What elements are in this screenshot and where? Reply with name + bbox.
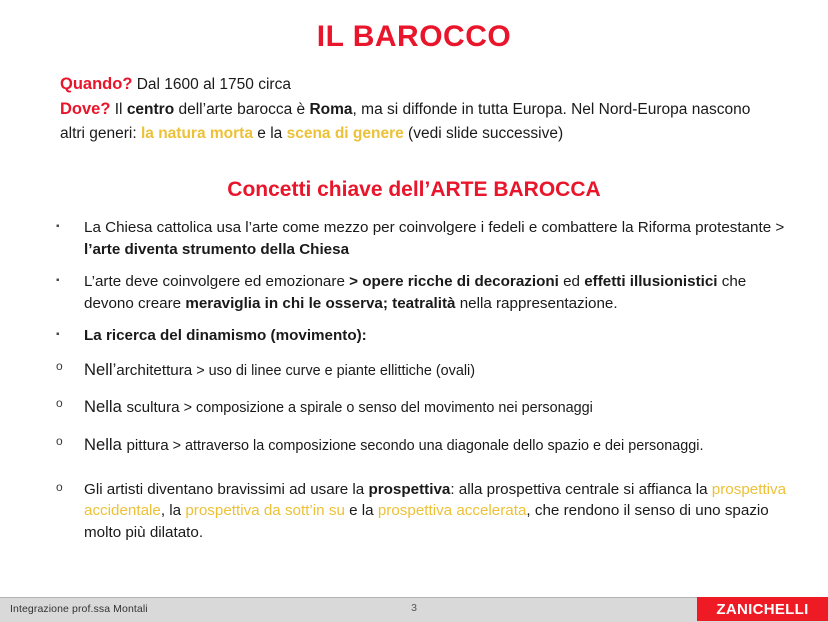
bullet-text-run: La ricerca del dinamismo (movimento): <box>84 327 367 344</box>
dove-bold-roma: Roma <box>309 101 352 118</box>
bullet-text-run: > composizione a spirale o senso del mov… <box>180 400 593 416</box>
dove-text-f: (vedi slide successive) <box>404 125 563 142</box>
dove-text-c: dell’arte barocca è <box>174 101 309 118</box>
highlight-scena-di-genere: scena di genere <box>287 125 404 142</box>
bullet-text: La ricerca del dinamismo (movimento): <box>84 327 367 344</box>
label-quando: Quando? <box>60 75 132 93</box>
intro-block: Quando? Dal 1600 al 1750 circa Dove? Il … <box>60 72 776 146</box>
bullet-text-run: > opere ricche di decorazioni <box>349 273 559 290</box>
highlight-natura-morta: la natura morta <box>141 125 253 142</box>
bullet-text-run: scultura <box>126 399 179 416</box>
dove-bold-centro: centro <box>127 101 174 118</box>
bullet-text: La Chiesa cattolica usa l’arte come mezz… <box>84 219 784 258</box>
bullet-text-run: meraviglia in chi le osserva; teatralità <box>185 295 455 312</box>
bullet-text-run: effetti illusionistici <box>584 273 717 290</box>
zanichelli-logo: ZANICHELLI <box>697 597 828 621</box>
sub-bullet-item: oNella pittura > attraverso la composizi… <box>48 433 788 457</box>
bullet-item: ▪L’arte deve coinvolgere ed emozionare >… <box>48 271 788 314</box>
intro-line-dove: Dove? Il centro dell’arte barocca è Roma… <box>60 97 776 146</box>
bullet-text-run: L’arte deve coinvolgere ed emozionare <box>84 273 349 290</box>
square-bullet-icon: ▪ <box>56 271 74 291</box>
circle-bullet-icon: o <box>56 479 74 496</box>
slide-canvas: IL BAROCCO Quando? Dal 1600 al 1750 circ… <box>0 0 828 621</box>
circle-bullet-icon: o <box>56 358 74 375</box>
bullet-text: Gli artisti diventano bravissimi ad usar… <box>84 481 786 541</box>
intro-line-quando: Quando? Dal 1600 al 1750 circa <box>60 72 776 97</box>
circle-bullet-icon: o <box>56 433 74 450</box>
bullet-text-run: La Chiesa cattolica usa l’arte come mezz… <box>84 219 784 236</box>
bullet-text-run: l’arte diventa strumento della Chiesa <box>84 241 349 258</box>
bullet-text-run: ed <box>559 273 584 290</box>
bullet-text-run: Nella <box>84 397 126 416</box>
bullet-text: Nell’architettura > uso di linee curve e… <box>84 362 475 379</box>
zanichelli-logo-text: ZANICHELLI <box>716 601 808 618</box>
bullet-text-run: Nell’ <box>84 360 116 379</box>
page-title: IL BAROCCO <box>0 20 828 54</box>
bullet-text-run: e la <box>345 502 378 519</box>
dove-text-a: Il <box>110 101 126 118</box>
bullet-text-run: > attraverso la composizione secondo una… <box>169 438 704 454</box>
bullet-list: ▪La Chiesa cattolica usa l’arte come mez… <box>48 217 788 557</box>
label-dove: Dove? <box>60 100 110 118</box>
text-quando: Dal 1600 al 1750 circa <box>132 76 291 93</box>
sub-bullet-item: oGli artisti diventano bravissimi ad usa… <box>48 479 788 544</box>
bullet-text-run: > uso di linee curve e piante ellittiche… <box>192 363 475 379</box>
bullet-text-run: prospettiva accelerata <box>378 502 527 519</box>
bullet-text-run: nella rappresentazione. <box>455 295 617 312</box>
bullet-item: ▪La Chiesa cattolica usa l’arte come mez… <box>48 217 788 260</box>
bullet-text: Nella scultura > composizione a spirale … <box>84 399 593 416</box>
dove-text-e: e la <box>253 125 287 142</box>
bullet-text-run: Nella <box>84 435 126 454</box>
square-bullet-icon: ▪ <box>56 217 74 237</box>
sub-bullet-item: oNella scultura > composizione a spirale… <box>48 395 788 419</box>
bullet-text: Nella pittura > attraverso la composizio… <box>84 437 703 454</box>
square-bullet-icon: ▪ <box>56 325 74 345</box>
bullet-text: L’arte deve coinvolgere ed emozionare > … <box>84 273 746 312</box>
bullet-text-run: pittura <box>126 437 168 454</box>
bullet-text-run: prospettiva da sott’in su <box>185 502 345 519</box>
bullet-text-run: , la <box>161 502 185 519</box>
circle-bullet-icon: o <box>56 395 74 412</box>
bullet-text-run: prospettiva <box>368 481 450 498</box>
bullet-item: ▪La ricerca del dinamismo (movimento): <box>48 325 788 347</box>
bullet-text-run: Gli artisti diventano bravissimi ad usar… <box>84 481 368 498</box>
bullet-text-run: architettura <box>116 362 192 379</box>
sub-bullet-item: oNell’architettura > uso di linee curve … <box>48 358 788 382</box>
bullet-text-run: : alla prospettiva centrale si affianca … <box>450 481 711 498</box>
section-subheading: Concetti chiave dell’ARTE BAROCCA <box>0 178 828 202</box>
